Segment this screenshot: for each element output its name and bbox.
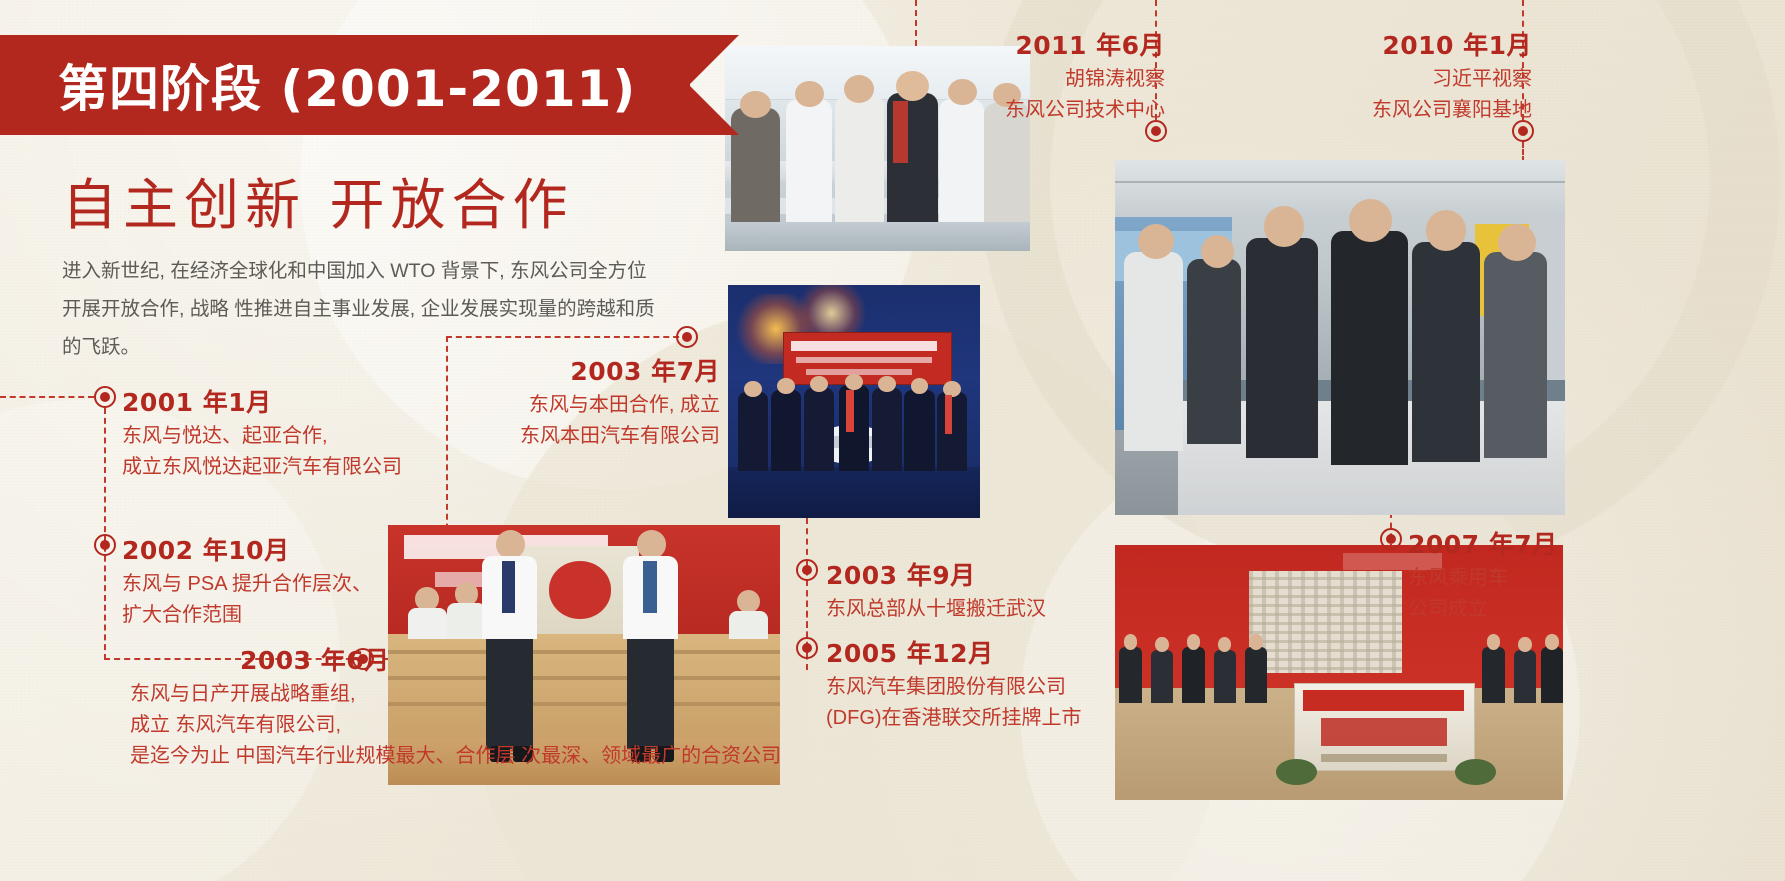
event-desc-line: 东风与本田合作, 成立 xyxy=(430,390,720,421)
event-2003-07: 2003 年7月 东风与本田合作, 成立 东风本田汽车有限公司 xyxy=(430,352,720,452)
event-desc-line: 扩大合作范围 xyxy=(122,600,372,631)
connector-line xyxy=(0,396,94,398)
infographic-page: 第四阶段 (2001-2011) 自主创新 开放合作 进入新世纪, 在经济全球化… xyxy=(0,0,1785,881)
event-desc-line: 东风公司技术中心 xyxy=(880,95,1165,126)
connector-line xyxy=(1522,142,1524,162)
event-desc-line: 东风本田汽车有限公司 xyxy=(430,421,720,452)
event-date: 2003 年6月 xyxy=(240,641,790,677)
event-desc-line: 胡锦涛视察 xyxy=(880,64,1165,95)
event-date: 2007 年7月 xyxy=(1408,525,1558,561)
event-date: 2002 年10月 xyxy=(122,531,372,567)
event-desc-line: 东风乘用车 xyxy=(1408,563,1558,594)
event-desc-line: 是迄今为止 中国汽车行业规模最大、合作层 次最深、领域最广的合资公司 xyxy=(130,741,790,772)
event-date: 2011 年6月 xyxy=(880,26,1165,62)
timeline-marker-2007-07[interactable] xyxy=(1380,528,1402,550)
page-title: 第四阶段 (2001-2011) xyxy=(58,49,636,121)
event-desc-line: 东风与日产开展战略重组, xyxy=(130,679,790,710)
event-desc-line: 东风公司襄阳基地 xyxy=(1250,95,1532,126)
event-date: 2003 年9月 xyxy=(826,556,1046,592)
event-2001-01: 2001 年1月 东风与悦达、起亚合作, 成立东风悦达起亚汽车有限公司 xyxy=(122,383,402,483)
event-desc-line: 东风总部从十堰搬迁武汉 xyxy=(826,594,1046,625)
event-2002-10: 2002 年10月 东风与 PSA 提升合作层次、 扩大合作范围 xyxy=(122,531,372,631)
event-desc-line: 东风汽车集团股份有限公司 xyxy=(826,672,1082,703)
timeline-marker-2003-07[interactable] xyxy=(676,326,698,348)
event-2003-09: 2003 年9月 东风总部从十堰搬迁武汉 xyxy=(826,556,1046,625)
event-2010-01: 2010 年1月 习近平视察 东风公司襄阳基地 xyxy=(1250,26,1532,126)
event-desc-line: 成立东风悦达起亚汽车有限公司 xyxy=(122,452,402,483)
intro-paragraph: 进入新世纪, 在经济全球化和中国加入 WTO 背景下, 东风公司全方位开展开放合… xyxy=(62,252,662,366)
event-2003-06: 2003 年6月 东风与日产开展战略重组, 成立 东风汽车有限公司, 是迄今为止… xyxy=(120,641,790,772)
photo-xi-jinping-xiangyang-base xyxy=(1115,160,1565,515)
timeline-marker-2003-06[interactable] xyxy=(352,648,374,670)
timeline-marker-2011-06[interactable] xyxy=(1145,120,1167,142)
event-desc-line: 习近平视察 xyxy=(1250,64,1532,95)
photo-dongfeng-honda-founding xyxy=(728,285,980,518)
event-desc-line: 公司成立 xyxy=(1408,594,1558,625)
headline: 自主创新 开放合作 xyxy=(62,160,573,240)
timeline-marker-2010-01[interactable] xyxy=(1512,120,1534,142)
timeline-marker-2005-12[interactable] xyxy=(796,637,818,659)
event-2005-12: 2005 年12月 东风汽车集团股份有限公司 (DFG)在香港联交所挂牌上市 xyxy=(826,634,1082,734)
event-desc-line: 东风与 PSA 提升合作层次、 xyxy=(122,569,372,600)
stage-title-ribbon: 第四阶段 (2001-2011) xyxy=(0,35,690,135)
timeline-marker-2003-09[interactable] xyxy=(796,559,818,581)
event-date: 2010 年1月 xyxy=(1250,26,1532,62)
timeline-marker-2001-01[interactable] xyxy=(94,386,116,408)
event-2007-07: 2007 年7月 东风乘用车 公司成立 xyxy=(1408,525,1558,625)
event-date: 2001 年1月 xyxy=(122,383,402,419)
event-desc-line: 成立 东风汽车有限公司, xyxy=(130,710,790,741)
event-date: 2005 年12月 xyxy=(826,634,1082,670)
timeline-marker-2002-10[interactable] xyxy=(94,534,116,556)
event-desc-line: 东风与悦达、起亚合作, xyxy=(122,421,402,452)
event-date: 2003 年7月 xyxy=(430,352,720,388)
event-2011-06: 2011 年6月 胡锦涛视察 东风公司技术中心 xyxy=(880,26,1165,126)
event-desc-line: (DFG)在香港联交所挂牌上市 xyxy=(826,703,1082,734)
